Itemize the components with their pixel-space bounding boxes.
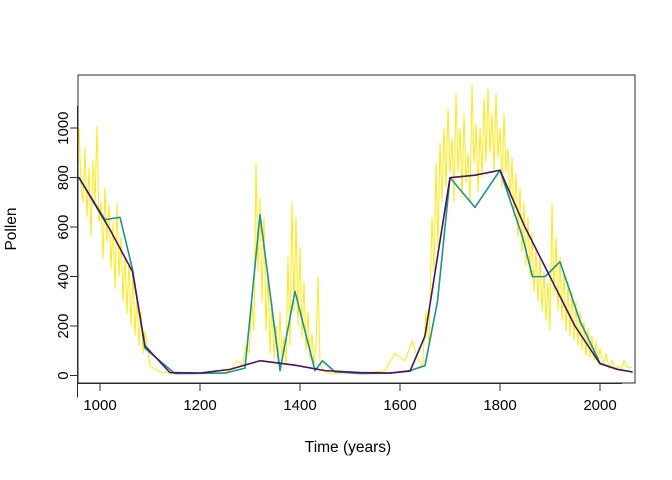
y-tick-label-200: 200	[55, 314, 72, 339]
x-tick-label-1000: 1000	[83, 397, 116, 414]
x-tick-label-2000: 2000	[583, 397, 616, 414]
y-tick-label-0: 0	[55, 371, 72, 379]
x-tick-label-1800: 1800	[483, 397, 516, 414]
x-tick-label-1600: 1600	[383, 397, 416, 414]
x-axis-title: Time (years)	[305, 439, 391, 456]
y-axis-title: Pollen	[3, 207, 20, 250]
y-tick-label-800: 800	[55, 165, 72, 190]
y-tick-label-600: 600	[55, 215, 72, 240]
x-tick-label-1400: 1400	[283, 397, 316, 414]
x-tick-label-1200: 1200	[183, 397, 216, 414]
chart-canvas: 100012001400160018002000 020040060080010…	[0, 0, 672, 480]
y-tick-label-1000: 1000	[55, 112, 72, 145]
pollen-time-series-chart: 100012001400160018002000 020040060080010…	[0, 0, 672, 480]
y-tick-label-400: 400	[55, 264, 72, 289]
